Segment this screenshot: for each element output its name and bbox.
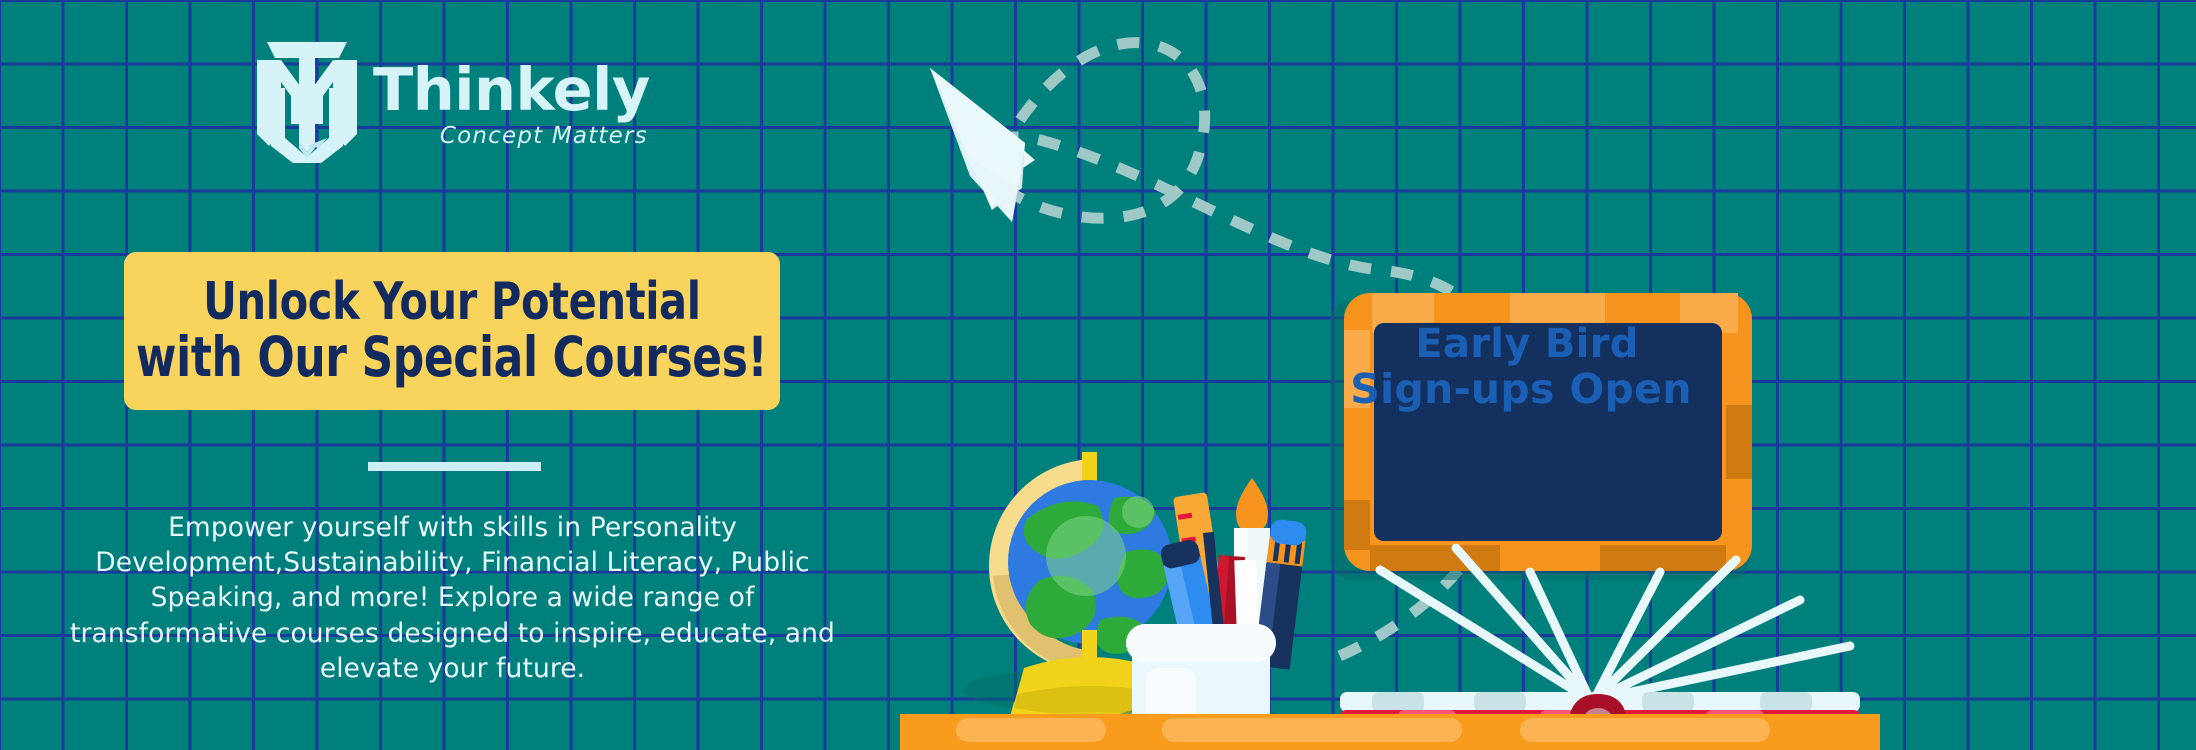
thinkely-shield-monogram-icon	[255, 38, 359, 163]
headline-box: Unlock Your Potential with Our Special C…	[124, 252, 780, 410]
headline-line-2: with Our Special Courses!	[136, 329, 767, 385]
section-divider	[368, 462, 541, 471]
promo-banner: Thinkely Concept Matters Unlock Your Pot…	[0, 0, 2196, 750]
chalkboard-icon	[1344, 293, 1752, 571]
education-illustration: Early Bird Sign-ups Open	[900, 0, 2196, 750]
left-content-column: Thinkely Concept Matters Unlock Your Pot…	[0, 0, 900, 750]
headline-line-1: Unlock Your Potential	[203, 276, 700, 329]
body-paragraph: Empower yourself with skills in Personal…	[70, 510, 835, 686]
brand-logo[interactable]: Thinkely Concept Matters	[255, 38, 650, 163]
brand-name: Thinkely	[373, 60, 650, 119]
brand-tagline: Concept Matters	[440, 125, 648, 148]
desk-surface-icon	[900, 714, 1880, 750]
